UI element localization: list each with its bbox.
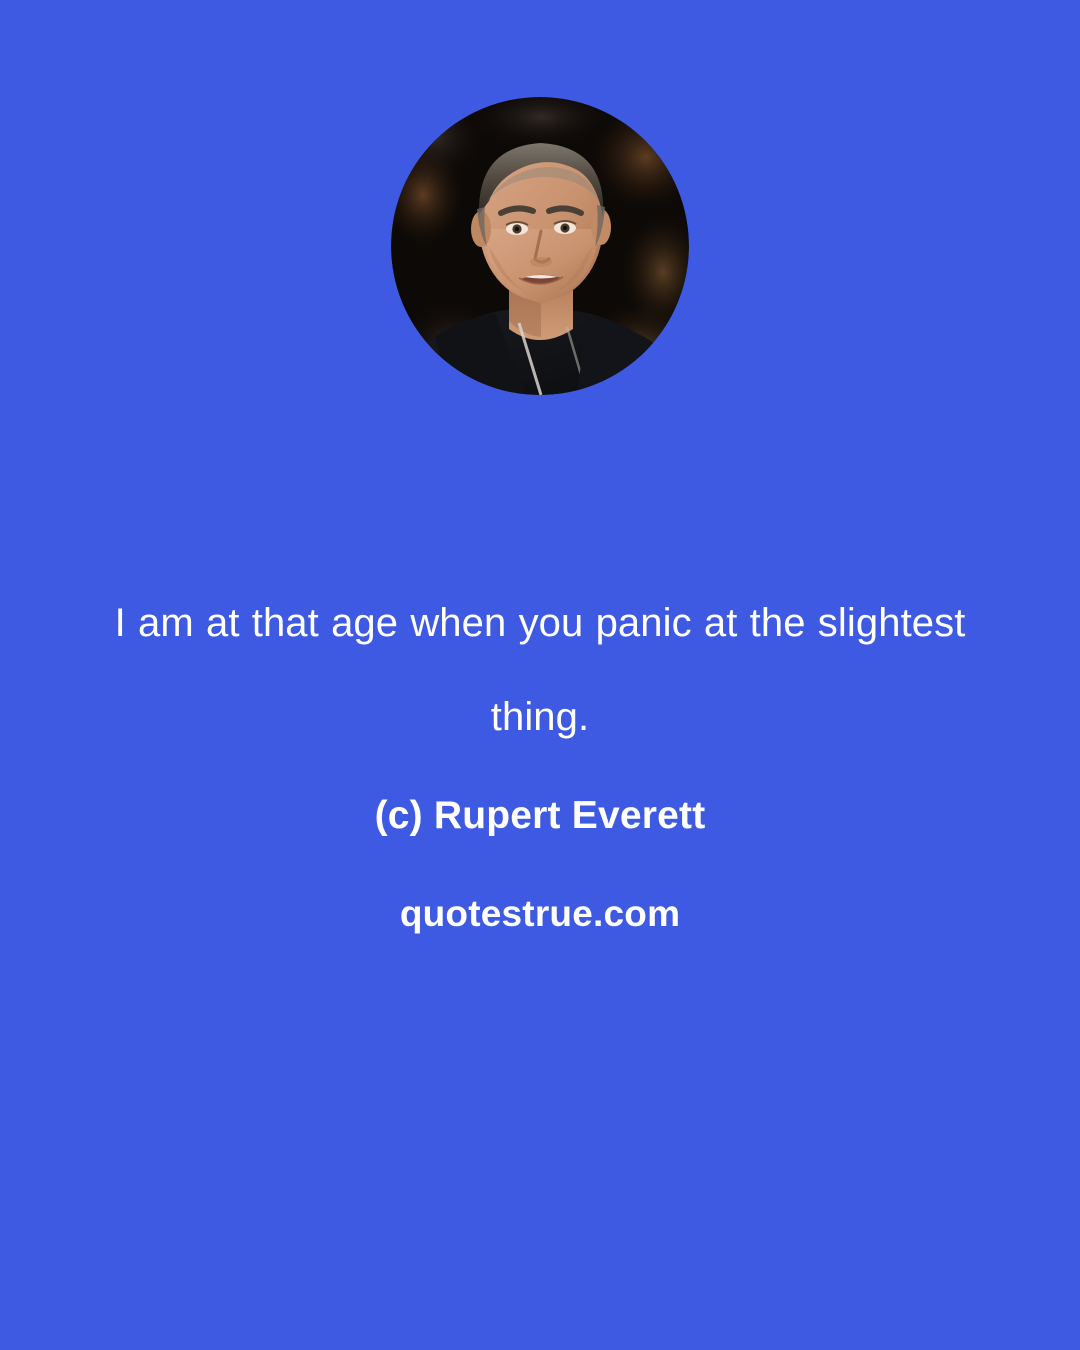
quote-text: I am at that age when you panic at the s… [80, 576, 1000, 764]
quote-text-block: I am at that age when you panic at the s… [0, 576, 1080, 938]
quote-attribution: (c) Rupert Everett [60, 790, 1020, 842]
author-portrait-circle-icon [391, 97, 689, 395]
source-website: quotestrue.com [60, 890, 1020, 938]
author-portrait [391, 97, 689, 395]
quote-card: I am at that age when you panic at the s… [0, 0, 1080, 1350]
